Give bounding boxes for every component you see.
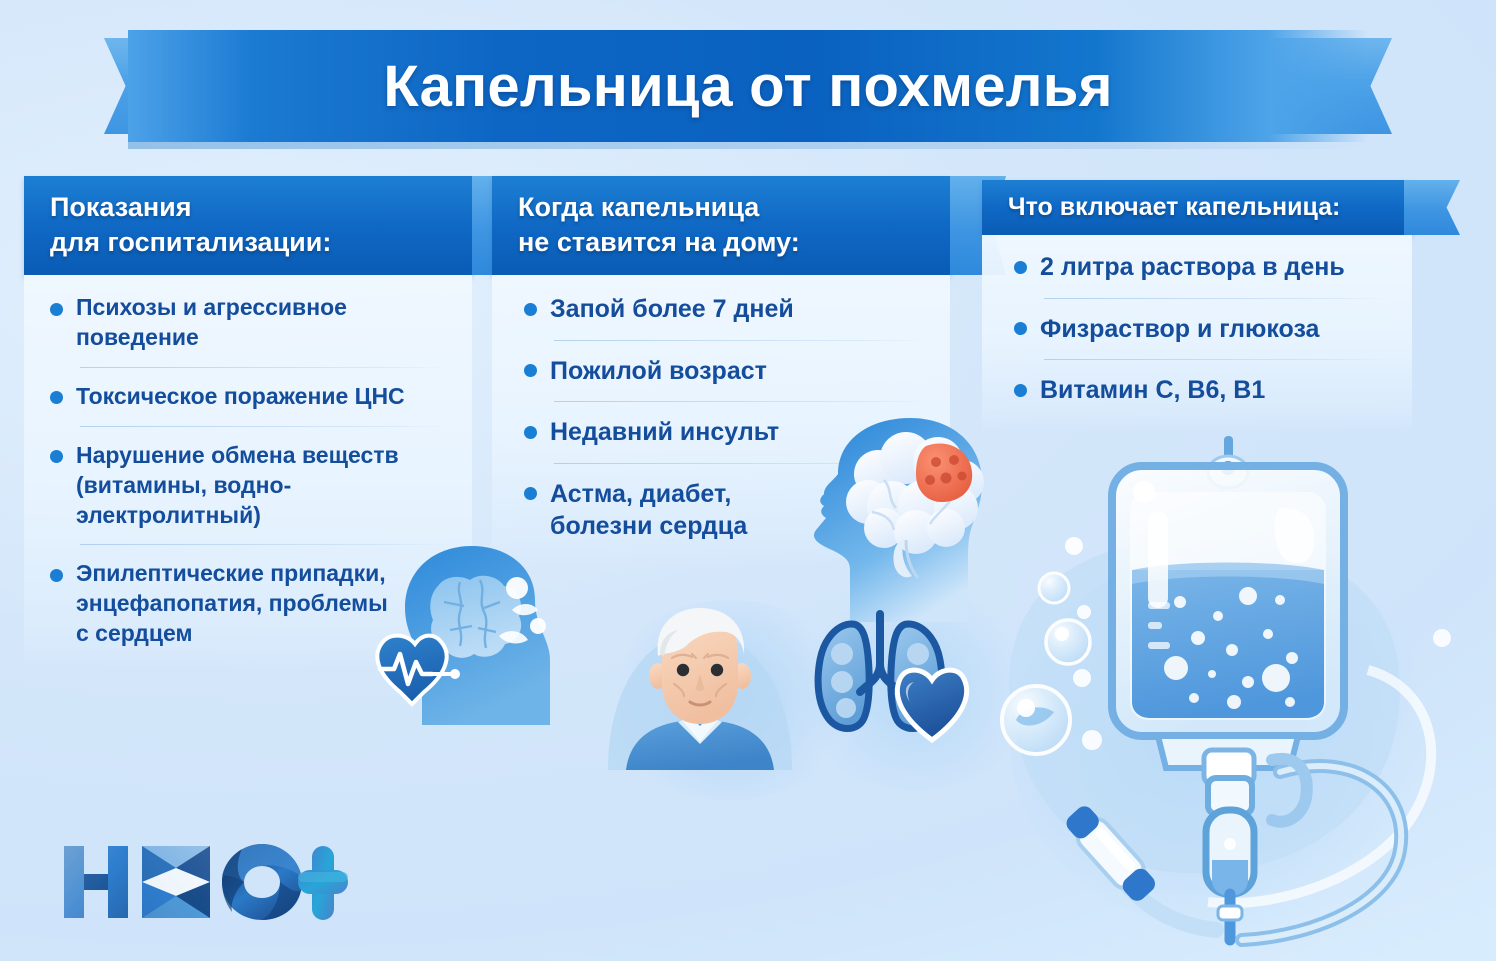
list-item-text: Пожилой возраст (550, 355, 928, 388)
bullet-dot-icon (50, 450, 63, 463)
page-title: Капельница от похмелья (0, 30, 1496, 142)
bullet-dot-icon (524, 487, 537, 500)
column-header-text: Показания для госпитализации: (50, 190, 454, 259)
list-item-text: Нарушение обмена веществ (витамины, водн… (76, 441, 450, 531)
list-item-text: 2 литра раствора в день (1040, 251, 1390, 284)
column-header-contents: Что включает капельница: (982, 180, 1412, 235)
column-body-contents: 2 литра раствора в день Физраствор и глю… (982, 235, 1412, 433)
divider (80, 426, 450, 427)
head-stroke-brain-icon (780, 410, 1010, 625)
list-item-text: Физраствор и глюкоза (1040, 313, 1390, 346)
contents-list: 2 литра раствора в день Физраствор и глю… (1010, 251, 1390, 407)
column-header-indications: Показания для госпитализации: (24, 176, 472, 275)
list-item-text: Витамин C, B6, B1 (1040, 374, 1390, 407)
brand-logo (58, 838, 348, 924)
bullet-dot-icon (50, 569, 63, 582)
list-item-text: Психозы и агрессивное поведение (76, 293, 450, 353)
list-separator-wrap (46, 367, 450, 368)
list-item: Витамин C, B6, B1 (1010, 374, 1390, 407)
bullet-dot-icon (1014, 261, 1027, 274)
list-item: Нарушение обмена веществ (витамины, водн… (46, 441, 450, 531)
list-separator-wrap (46, 426, 450, 427)
list-separator-wrap (520, 340, 928, 341)
title-banner: Капельница от похмелья (0, 30, 1496, 142)
header-tail-chevron (1404, 180, 1460, 235)
list-item: Токсическое поражение ЦНС (46, 382, 450, 412)
list-item: Физраствор и глюкоза (1010, 313, 1390, 346)
divider (554, 340, 928, 341)
lungs-heart-icon (790, 608, 980, 758)
elderly-man-icon (600, 592, 800, 772)
bullet-dot-icon (1014, 384, 1027, 397)
list-item: Психозы и агрессивное поведение (46, 293, 450, 353)
bullet-dot-icon (1014, 322, 1027, 335)
list-separator-wrap (1010, 359, 1390, 360)
bullet-dot-icon (50, 391, 63, 404)
divider (80, 367, 450, 368)
infographic-canvas: Капельница от похмелья Показания для гос… (0, 0, 1496, 961)
bullet-dot-icon (524, 426, 537, 439)
bullet-dot-icon (50, 303, 63, 316)
column-header-text: Когда капельница не ставится на дому: (518, 190, 932, 259)
list-separator-wrap (1010, 298, 1390, 299)
bullet-dot-icon (524, 303, 537, 316)
column-header-contraindications: Когда капельница не ставится на дому: (492, 176, 950, 275)
column-header-text: Что включает капельница: (1008, 191, 1394, 223)
divider (1044, 298, 1390, 299)
list-separator-wrap (520, 401, 928, 402)
iv-drip-bag-icon (980, 420, 1496, 961)
divider (554, 401, 928, 402)
divider (1044, 359, 1390, 360)
bullet-dot-icon (524, 364, 537, 377)
list-item-text: Запой более 7 дней (550, 293, 928, 326)
list-item: 2 литра раствора в день (1010, 251, 1390, 284)
column-contents: Что включает капельница: 2 литра раствор… (982, 180, 1412, 433)
list-item: Пожилой возраст (520, 355, 928, 388)
head-brain-heartbeat-icon (360, 540, 600, 730)
list-item-text: Токсическое поражение ЦНС (76, 382, 450, 412)
list-item: Запой более 7 дней (520, 293, 928, 326)
